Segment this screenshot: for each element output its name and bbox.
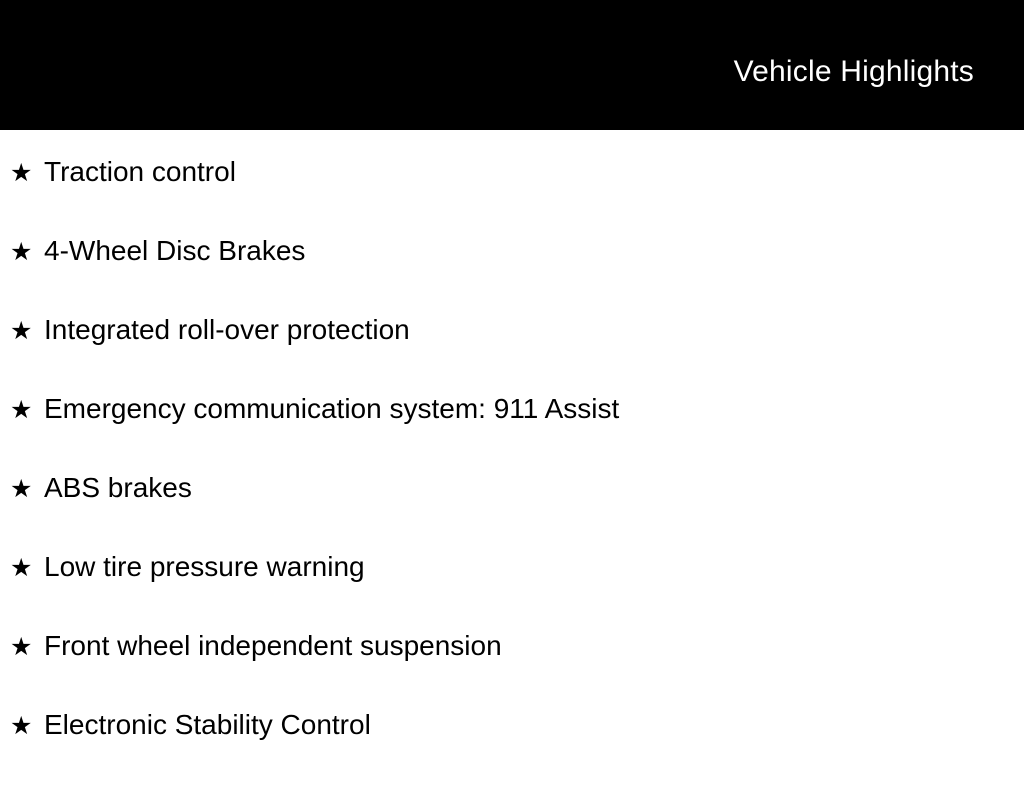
feature-label: Traction control: [44, 158, 236, 186]
star-icon: ★: [10, 555, 44, 580]
feature-label: Low tire pressure warning: [44, 553, 365, 581]
vehicle-highlights-slide: Vehicle Highlights ★ Traction control ★ …: [0, 0, 1024, 768]
list-item: ★ Traction control: [0, 130, 1024, 237]
list-item: ★ 4-Wheel Disc Brakes: [0, 237, 1024, 316]
feature-label: ABS brakes: [44, 474, 192, 502]
star-icon: ★: [10, 634, 44, 659]
list-item: ★ Emergency communication system: 911 As…: [0, 395, 1024, 474]
star-icon: ★: [10, 397, 44, 422]
feature-label: 4-Wheel Disc Brakes: [44, 237, 305, 265]
list-item: ★ Electronic Stability Control: [0, 711, 1024, 790]
feature-label: Integrated roll-over protection: [44, 316, 410, 344]
star-icon: ★: [10, 318, 44, 343]
star-icon: ★: [10, 476, 44, 501]
list-item: ★ Integrated roll-over protection: [0, 316, 1024, 395]
list-item: ★ Front wheel independent suspension: [0, 632, 1024, 711]
list-item: ★ Low tire pressure warning: [0, 553, 1024, 632]
feature-label: Front wheel independent suspension: [44, 632, 502, 660]
list-item: ★ ABS brakes: [0, 474, 1024, 553]
star-icon: ★: [10, 239, 44, 264]
star-icon: ★: [10, 160, 44, 185]
feature-label: Electronic Stability Control: [44, 711, 371, 739]
feature-label: Emergency communication system: 911 Assi…: [44, 395, 619, 423]
vehicle-features-list: ★ Traction control ★ 4-Wheel Disc Brakes…: [0, 130, 1024, 790]
page-title: Vehicle Highlights: [734, 57, 974, 87]
star-icon: ★: [10, 713, 44, 738]
header-bar: Vehicle Highlights: [0, 0, 1024, 130]
